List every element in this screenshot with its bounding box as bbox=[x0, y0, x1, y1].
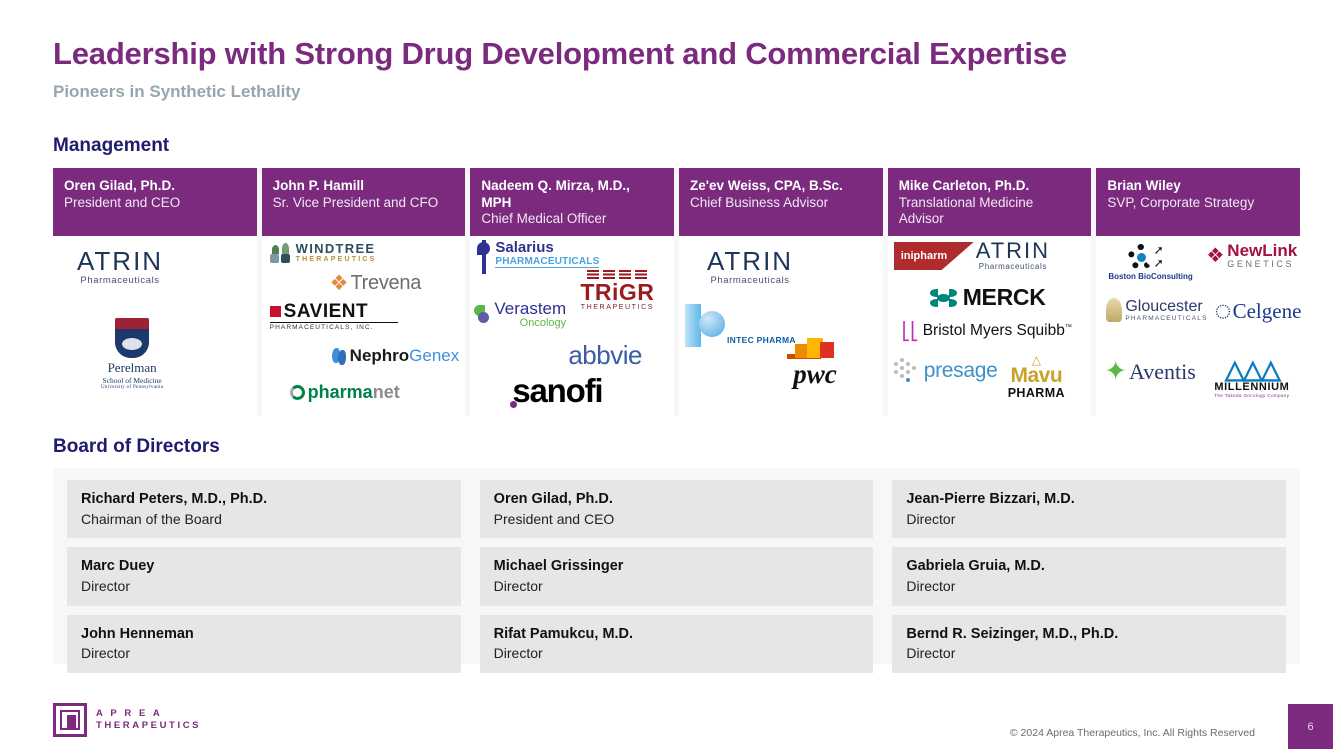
management-card-oren-gilad: Oren Gilad, Ph.D. President and CEO ATRI… bbox=[53, 168, 257, 416]
management-heading: Management bbox=[53, 135, 169, 157]
bristol-myers-squibb-logo: ⎣⎣ Bristol Myers Squibb™ bbox=[902, 322, 1072, 340]
logo-group: ATRIN Pharmaceuticals INTEC PHARMA pwc bbox=[679, 236, 883, 416]
pwc-mark-icon bbox=[787, 336, 843, 362]
inipharm-logo: inipharm bbox=[894, 242, 974, 270]
board-member-name: Richard Peters, M.D., Ph.D. bbox=[81, 490, 447, 510]
atrin-subtext: Pharmaceuticals bbox=[707, 275, 793, 286]
savient-divider bbox=[270, 322, 398, 323]
millennium-mark-icon: △△△ bbox=[1214, 358, 1289, 381]
celgene-logo: ◌ Celgene bbox=[1214, 298, 1301, 324]
management-card-header: Mike Carleton, Ph.D. Translational Medic… bbox=[888, 168, 1092, 236]
management-panel: Oren Gilad, Ph.D. President and CEO ATRI… bbox=[53, 168, 1300, 416]
board-member-card: John Henneman Director bbox=[67, 615, 461, 673]
management-card-mike-carleton: Mike Carleton, Ph.D. Translational Medic… bbox=[888, 168, 1092, 416]
mavu-wordmark: Mavu bbox=[1008, 366, 1065, 386]
bbc-wordmark: Boston BioConsulting bbox=[1108, 272, 1192, 281]
intec-pharma-logo: INTEC PHARMA bbox=[685, 304, 796, 347]
aventis-logo: ✦ Aventis bbox=[1104, 358, 1195, 385]
person-role: Chief Business Advisor bbox=[690, 195, 872, 212]
nephrogenex-logo: NephroGenex bbox=[332, 346, 460, 366]
atrin-pharmaceuticals-logo: ATRIN Pharmaceuticals bbox=[77, 246, 163, 286]
board-member-card: Marc Duey Director bbox=[67, 547, 461, 605]
board-row: John Henneman Director Rifat Pamukcu, M.… bbox=[67, 615, 1286, 673]
board-row: Richard Peters, M.D., Ph.D. Chairman of … bbox=[67, 480, 1286, 538]
trevena-wordmark: Trevena bbox=[351, 272, 422, 295]
savient-mark-icon bbox=[270, 306, 281, 317]
person-role: President and CEO bbox=[64, 195, 246, 212]
board-heading: Board of Directors bbox=[53, 436, 220, 458]
person-name: Brian Wiley bbox=[1107, 178, 1289, 195]
presage-wordmark: presage bbox=[924, 359, 998, 383]
millennium-wordmark: MILLENNIUM bbox=[1214, 381, 1289, 393]
perelman-subtext: School of Medicine bbox=[101, 376, 163, 385]
sanofi-wordmark: sanofi bbox=[512, 372, 602, 409]
board-member-role: Director bbox=[494, 577, 860, 596]
pharmanet-mark-icon bbox=[290, 385, 305, 400]
board-member-role: Director bbox=[906, 577, 1272, 596]
bms-wordmark: Bristol Myers Squibb bbox=[923, 322, 1065, 339]
logo-group: ATRIN Pharmaceuticals Perelman School of… bbox=[53, 236, 257, 416]
aventis-mark-icon: ✦ bbox=[1104, 358, 1127, 385]
nephrogenex-wordmark: Nephro bbox=[350, 346, 410, 365]
nephrogenex-wordmark2: Genex bbox=[409, 346, 459, 365]
management-card-header: Ze'ev Weiss, CPA, B.Sc. Chief Business A… bbox=[679, 168, 883, 236]
trigr-mark-icon bbox=[580, 270, 654, 279]
pharmanet-logo: pharmanet bbox=[290, 382, 400, 403]
pwc-wordmark: pwc bbox=[787, 362, 843, 388]
intec-wordmark: INTEC PHARMA bbox=[727, 335, 796, 347]
page-number: 6 bbox=[1288, 704, 1333, 749]
logo-group: WINDTREE THERAPEUTICS ❖ Trevena SAVIENT bbox=[262, 236, 466, 416]
boston-bioconsulting-logo: ➚➚ Boston BioConsulting bbox=[1108, 244, 1192, 281]
board-member-name: John Henneman bbox=[81, 625, 447, 645]
bbc-mark-icon: ➚➚ bbox=[1128, 244, 1174, 270]
aprea-mark-icon bbox=[53, 703, 87, 737]
verastem-oncology-logo: Verastem Oncology bbox=[474, 300, 566, 329]
person-role: Chief Medical Officer bbox=[481, 211, 663, 228]
newlink-wordmark: NewLink bbox=[1227, 242, 1297, 259]
millennium-logo: △△△ MILLENNIUM The Takeda Oncology Compa… bbox=[1214, 358, 1289, 398]
management-card-header: Brian Wiley SVP, Corporate Strategy bbox=[1096, 168, 1300, 236]
logo-group: Salarius PHARMACEUTICALS TRiGR THERAPEUT… bbox=[470, 236, 674, 416]
verastem-mark-icon bbox=[474, 305, 491, 324]
pharmanet-wordmark: pharma bbox=[308, 382, 373, 402]
trigr-subtext: THERAPEUTICS bbox=[580, 304, 654, 311]
person-role: SVP, Corporate Strategy bbox=[1107, 195, 1289, 212]
mavu-subtext: PHARMA bbox=[1008, 386, 1065, 400]
salarius-mark-icon bbox=[476, 240, 492, 274]
person-role: Sr. Vice President and CFO bbox=[273, 195, 455, 212]
copyright-text: © 2024 Aprea Therapeutics, Inc. All Righ… bbox=[1010, 727, 1255, 739]
board-member-name: Gabriela Gruia, M.D. bbox=[906, 557, 1272, 577]
trevena-logo: ❖ Trevena bbox=[330, 272, 421, 295]
board-member-card: Michael Grissinger Director bbox=[480, 547, 874, 605]
person-role: Translational Medicine Advisor bbox=[899, 195, 1081, 228]
perelman-school-of-medicine-logo: Perelman School of Medicine University o… bbox=[101, 318, 163, 390]
verastem-subtext: Oncology bbox=[494, 317, 566, 329]
board-member-name: Oren Gilad, Ph.D. bbox=[494, 490, 860, 510]
management-card-john-hamill: John P. Hamill Sr. Vice President and CF… bbox=[262, 168, 466, 416]
board-member-role: Director bbox=[906, 510, 1272, 529]
management-card-header: John P. Hamill Sr. Vice President and CF… bbox=[262, 168, 466, 236]
atrin-subtext: Pharmaceuticals bbox=[77, 275, 163, 286]
board-row: Marc Duey Director Michael Grissinger Di… bbox=[67, 547, 1286, 605]
page-subtitle: Pioneers in Synthetic Lethality bbox=[53, 82, 301, 102]
person-name: Mike Carleton, Ph.D. bbox=[899, 178, 1081, 195]
perelman-subtext2: University of Pennsylvania bbox=[101, 385, 163, 390]
board-member-name: Rifat Pamukcu, M.D. bbox=[494, 625, 860, 645]
board-member-role: President and CEO bbox=[494, 510, 860, 529]
page-title: Leadership with Strong Drug Development … bbox=[53, 36, 1067, 72]
atrin-pharmaceuticals-logo: ATRIN Pharmaceuticals bbox=[707, 246, 793, 286]
board-member-name: Michael Grissinger bbox=[494, 557, 860, 577]
pharmanet-wordmark2: net bbox=[373, 382, 400, 402]
salarius-subtext: PHARMACEUTICALS bbox=[495, 256, 599, 268]
board-member-name: Jean-Pierre Bizzari, M.D. bbox=[906, 490, 1272, 510]
board-member-role: Director bbox=[81, 644, 447, 663]
gloucester-mark-icon bbox=[1106, 298, 1122, 322]
board-member-card: Oren Gilad, Ph.D. President and CEO bbox=[480, 480, 874, 538]
management-card-zeev-weiss: Ze'ev Weiss, CPA, B.Sc. Chief Business A… bbox=[679, 168, 883, 416]
person-name: John P. Hamill bbox=[273, 178, 455, 195]
celgene-wordmark: Celgene bbox=[1233, 299, 1302, 324]
presage-logo: presage bbox=[894, 358, 998, 384]
logo-group: inipharm ATRIN Pharmaceuticals MERCK ⎣⎣ … bbox=[888, 236, 1092, 416]
atrin-subtext: Pharmaceuticals bbox=[976, 262, 1050, 271]
merck-wordmark: MERCK bbox=[963, 284, 1046, 311]
newlink-dna-icon: ❖ bbox=[1206, 246, 1224, 266]
verastem-wordmark: Verastem bbox=[494, 300, 566, 317]
perelman-wordmark: Perelman bbox=[101, 360, 163, 376]
penn-shield-icon bbox=[115, 318, 149, 358]
savient-pharmaceuticals-logo: SAVIENT PHARMACEUTICALS, INC. bbox=[270, 302, 398, 331]
aventis-wordmark: Aventis bbox=[1129, 359, 1196, 385]
aprea-wordmark-line2: THERAPEUTICS bbox=[96, 720, 201, 732]
abbvie-logo: abbvie bbox=[568, 340, 642, 371]
atrin-pharmaceuticals-logo: ATRIN Pharmaceuticals bbox=[976, 238, 1050, 271]
board-member-card: Gabriela Gruia, M.D. Director bbox=[892, 547, 1286, 605]
windtree-therapeutics-logo: WINDTREE THERAPEUTICS bbox=[270, 242, 377, 265]
windtree-mark-icon bbox=[270, 243, 292, 263]
newlink-subtext: GENETICS bbox=[1227, 259, 1297, 270]
celgene-mark-icon: ◌ bbox=[1214, 298, 1231, 324]
board-member-role: Chairman of the Board bbox=[81, 510, 447, 529]
trigr-wordmark: TRiGR bbox=[580, 281, 654, 304]
intec-mark-icon bbox=[685, 304, 725, 347]
salarius-pharmaceuticals-logo: Salarius PHARMACEUTICALS bbox=[476, 240, 599, 274]
gloucester-subtext: PHARMACEUTICALS bbox=[1125, 315, 1207, 322]
board-member-role: Director bbox=[494, 644, 860, 663]
trigr-therapeutics-logo: TRiGR THERAPEUTICS bbox=[580, 270, 654, 311]
board-member-card: Rifat Pamukcu, M.D. Director bbox=[480, 615, 874, 673]
merck-mark-icon bbox=[930, 285, 957, 311]
board-member-name: Marc Duey bbox=[81, 557, 447, 577]
board-member-role: Director bbox=[81, 577, 447, 596]
atrin-wordmark: ATRIN bbox=[707, 246, 793, 277]
logo-group: ➚➚ Boston BioConsulting ❖ NewLink GENETI… bbox=[1096, 236, 1300, 416]
savient-subtext: PHARMACEUTICALS, INC. bbox=[270, 324, 398, 331]
newlink-genetics-logo: ❖ NewLink GENETICS bbox=[1206, 242, 1297, 270]
millennium-subtext: The Takeda Oncology Company bbox=[1214, 393, 1289, 398]
inipharm-wordmark: inipharm bbox=[894, 250, 947, 262]
atrin-wordmark: ATRIN bbox=[77, 246, 163, 276]
management-card-header: Nadeem Q. Mirza, M.D., MPH Chief Medical… bbox=[470, 168, 674, 236]
board-member-role: Director bbox=[906, 644, 1272, 663]
board-member-name: Bernd R. Seizinger, M.D., Ph.D. bbox=[906, 625, 1272, 645]
person-name: Nadeem Q. Mirza, M.D., MPH bbox=[481, 178, 663, 211]
board-member-card: Bernd R. Seizinger, M.D., Ph.D. Director bbox=[892, 615, 1286, 673]
board-panel: Richard Peters, M.D., Ph.D. Chairman of … bbox=[53, 468, 1300, 664]
board-member-card: Richard Peters, M.D., Ph.D. Chairman of … bbox=[67, 480, 461, 538]
nephrogenex-mark-icon bbox=[332, 348, 347, 365]
aprea-wordmark-line1: A P R E A bbox=[96, 708, 201, 720]
merck-logo: MERCK bbox=[930, 284, 1046, 311]
person-name: Oren Gilad, Ph.D. bbox=[64, 178, 246, 195]
mavu-pharma-logo: △ Mavu PHARMA bbox=[1008, 354, 1065, 400]
management-card-nadeem-mirza: Nadeem Q. Mirza, M.D., MPH Chief Medical… bbox=[470, 168, 674, 416]
person-name: Ze'ev Weiss, CPA, B.Sc. bbox=[690, 178, 872, 195]
atrin-wordmark: ATRIN bbox=[976, 238, 1050, 264]
gloucester-pharmaceuticals-logo: Gloucester PHARMACEUTICALS bbox=[1106, 298, 1207, 322]
salarius-wordmark: Salarius bbox=[495, 240, 599, 256]
management-card-header: Oren Gilad, Ph.D. President and CEO bbox=[53, 168, 257, 236]
aprea-therapeutics-logo: A P R E A THERAPEUTICS bbox=[53, 703, 201, 737]
pwc-logo: pwc bbox=[787, 336, 843, 388]
management-card-brian-wiley: Brian Wiley SVP, Corporate Strategy ➚➚ B… bbox=[1096, 168, 1300, 416]
presage-mark-icon bbox=[894, 358, 920, 384]
board-member-card: Jean-Pierre Bizzari, M.D. Director bbox=[892, 480, 1286, 538]
windtree-wordmark: WINDTREE bbox=[296, 242, 377, 255]
trevena-mark-icon: ❖ bbox=[330, 273, 349, 294]
gloucester-wordmark: Gloucester bbox=[1125, 299, 1207, 315]
bms-mark-icon: ⎣⎣ bbox=[902, 323, 919, 340]
windtree-subtext: THERAPEUTICS bbox=[296, 255, 377, 265]
savient-wordmark: SAVIENT bbox=[284, 302, 368, 321]
slide: Leadership with Strong Drug Development … bbox=[0, 0, 1333, 749]
